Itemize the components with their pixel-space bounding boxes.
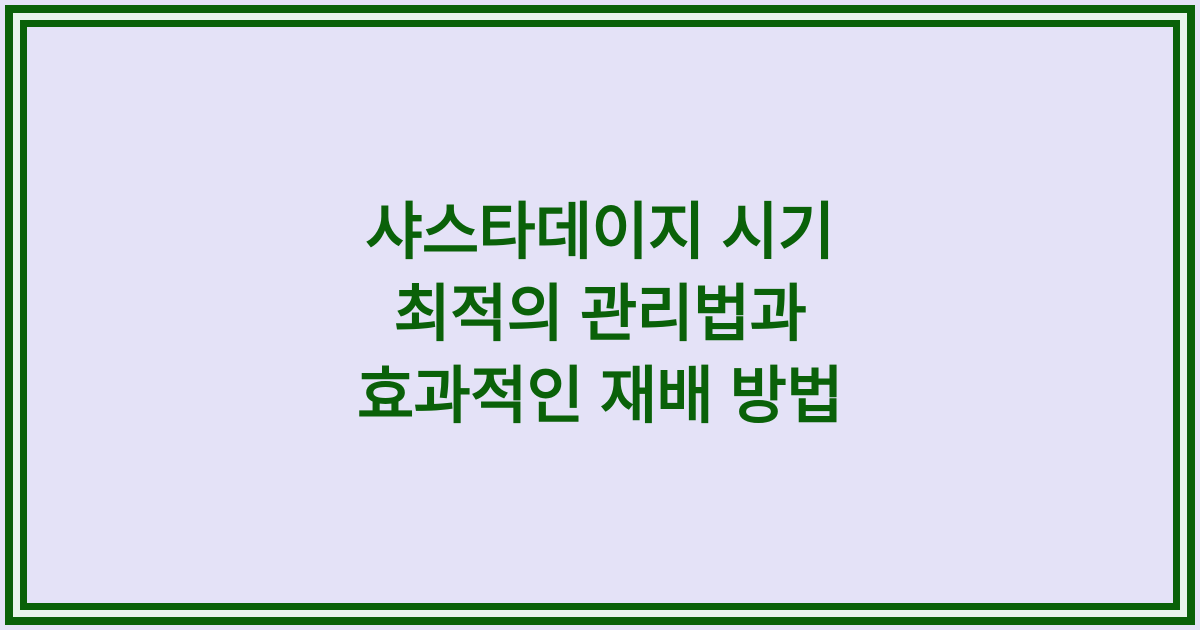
headline-line-2: 최적의 관리법과 [67, 274, 1133, 356]
decorative-inner-border: 샤스타데이지 시기 최적의 관리법과 효과적인 재배 방법 [20, 20, 1180, 610]
headline-line-1: 샤스타데이지 시기 [67, 192, 1133, 274]
thumbnail-card: 샤스타데이지 시기 최적의 관리법과 효과적인 재배 방법 [0, 0, 1200, 630]
headline-block: 샤스타데이지 시기 최적의 관리법과 효과적인 재배 방법 [27, 192, 1173, 438]
headline-line-3: 효과적인 재배 방법 [67, 356, 1133, 438]
decorative-outer-border: 샤스타데이지 시기 최적의 관리법과 효과적인 재배 방법 [5, 5, 1195, 625]
